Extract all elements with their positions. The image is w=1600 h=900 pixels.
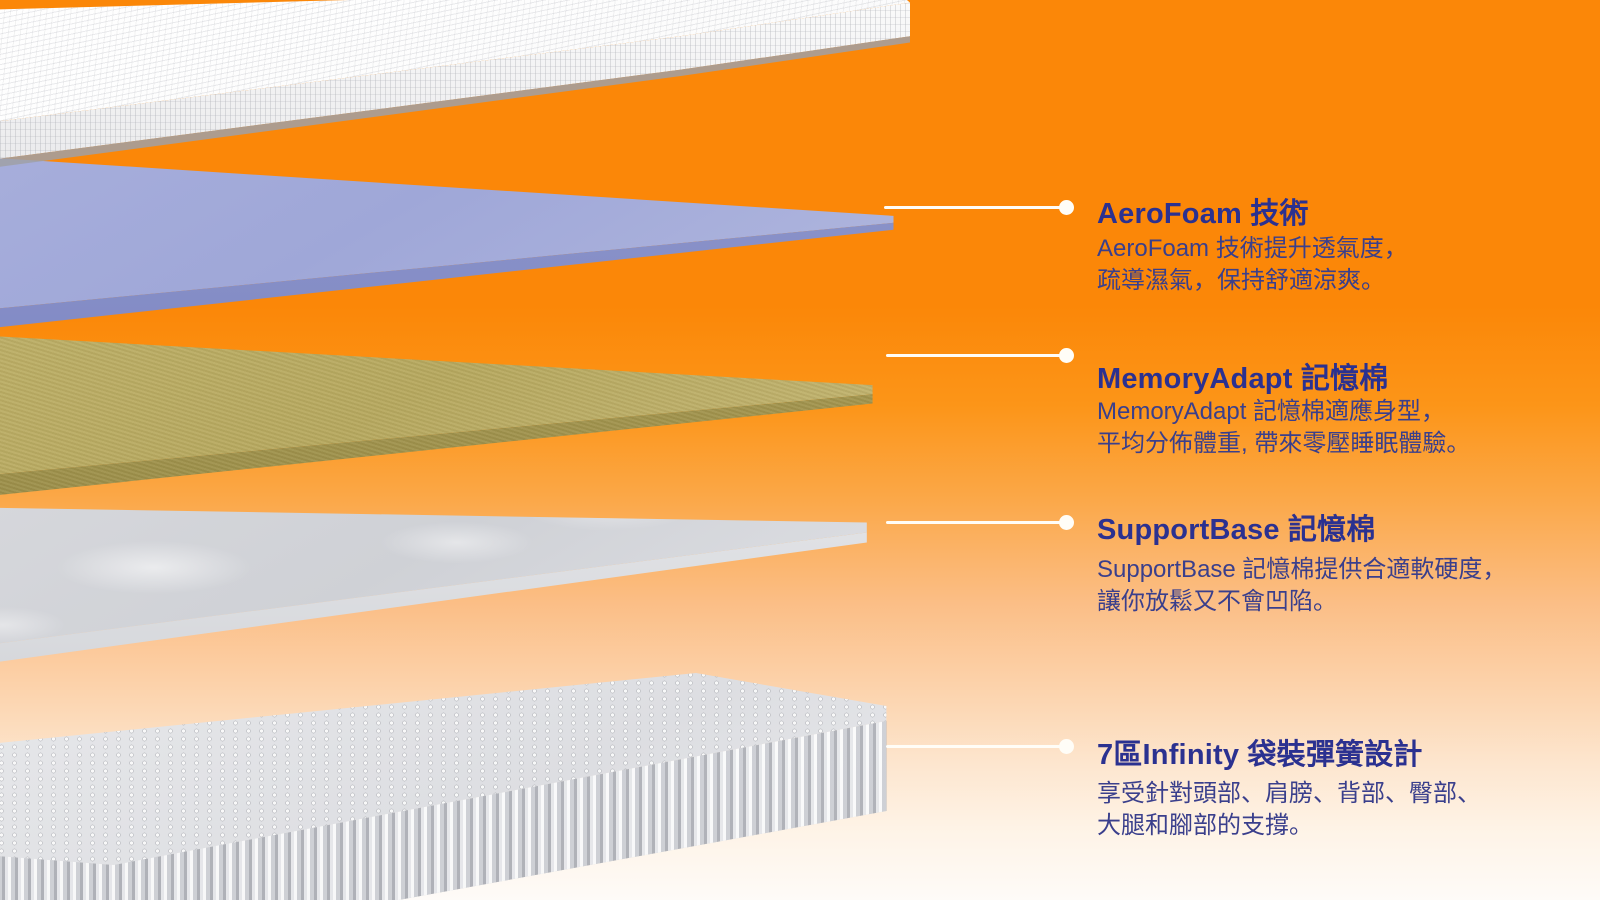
callout-body-pocket-springs: 享受針對頭部、肩膀、背部、臀部、 大腿和腳部的支撐。 <box>1097 778 1481 842</box>
leader-line-pocket-springs <box>886 745 1066 748</box>
leader-line-aerofoam <box>884 206 1066 209</box>
callout-title-memoryadapt: MemoryAdapt 記憶棉 <box>1097 355 1388 397</box>
callout-title-pocket-springs: 7區Infinity 袋裝彈簧設計 <box>1097 731 1423 773</box>
callout-body-line: 讓你放鬆又不會凹陷。 <box>1097 586 1506 618</box>
callout-body-supportbase: SupportBase 記憶棉提供合適軟硬度， 讓你放鬆又不會凹陷。 <box>1097 554 1506 618</box>
leader-dot-aerofoam <box>1059 200 1074 215</box>
callout-body-memoryadapt: MemoryAdapt 記憶棉適應身型， 平均分佈體重, 帶來零壓睡眠體驗。 <box>1097 396 1470 460</box>
layer-cover <box>0 0 940 200</box>
callout-title-supportbase: SupportBase 記憶棉 <box>1097 506 1376 548</box>
leader-dot-supportbase <box>1059 515 1074 530</box>
callout-body-line: 疏導濕氣，保持舒適涼爽。 <box>1097 265 1408 297</box>
callout-body-aerofoam: AeroFoam 技術提升透氣度， 疏導濕氣，保持舒適涼爽。 <box>1097 233 1408 297</box>
leader-line-memoryadapt <box>886 354 1066 357</box>
mattress-layer-stack <box>0 0 960 900</box>
callout-body-line: 平均分佈體重, 帶來零壓睡眠體驗。 <box>1097 428 1470 460</box>
leader-line-supportbase <box>886 521 1066 524</box>
leader-dot-memoryadapt <box>1059 348 1074 363</box>
callout-body-line: SupportBase 記憶棉提供合適軟硬度， <box>1097 554 1506 586</box>
callout-title-aerofoam: AeroFoam 技術 <box>1097 190 1309 232</box>
callout-body-line: AeroFoam 技術提升透氣度， <box>1097 233 1408 265</box>
leader-dot-pocket-springs <box>1059 739 1074 754</box>
mattress-infographic: AeroFoam 技術 AeroFoam 技術提升透氣度， 疏導濕氣，保持舒適涼… <box>0 0 1600 900</box>
callout-body-line: 享受針對頭部、肩膀、背部、臀部、 <box>1097 778 1481 810</box>
callout-body-line: 大腿和腳部的支撐。 <box>1097 810 1481 842</box>
callout-body-line: MemoryAdapt 記憶棉適應身型， <box>1097 396 1470 428</box>
